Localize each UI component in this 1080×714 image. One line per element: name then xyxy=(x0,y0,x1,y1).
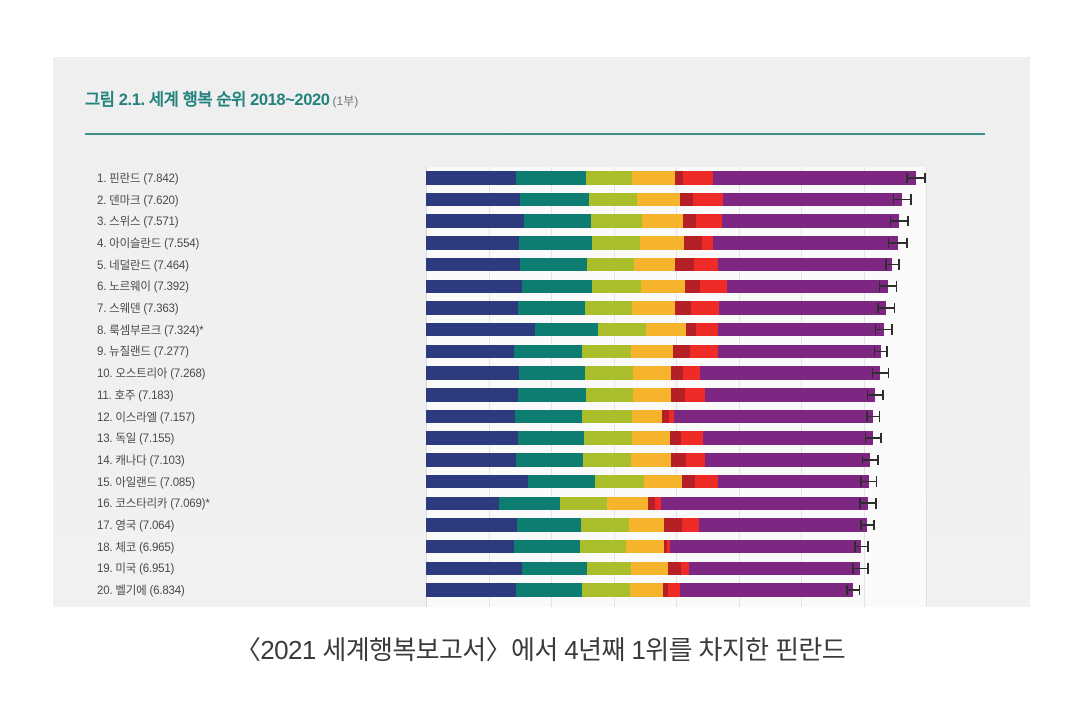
confidence-interval-whisker xyxy=(893,193,912,207)
bar-segment-corruption xyxy=(668,583,680,597)
bar-segment-health xyxy=(581,518,629,532)
bar-segment-freedom xyxy=(642,214,683,228)
stacked-bar xyxy=(426,193,902,207)
bar-segment-health xyxy=(589,193,637,207)
bar-segment-gdp xyxy=(426,497,499,511)
chart-row: 17. 영국 (7.064) xyxy=(426,514,926,536)
stacked-bar xyxy=(426,562,860,576)
bar-segment-health xyxy=(595,475,644,489)
country-label: 10. 오스트리아 (7.268) xyxy=(97,365,397,381)
bar-segment-gdp xyxy=(426,236,519,250)
bar-segment-gdp xyxy=(426,171,516,185)
plot-area: 1. 핀란드 (7.842)2. 덴마크 (7.620)3. 스위스 (7.57… xyxy=(426,167,926,607)
bar-segment-gdp xyxy=(426,562,522,576)
stacked-bar xyxy=(426,258,893,272)
bar-segment-social xyxy=(535,323,598,337)
confidence-interval-whisker xyxy=(877,301,895,315)
bar-segment-corruption xyxy=(683,366,700,380)
bar-segment-generosity xyxy=(680,193,693,207)
bar-segment-gdp xyxy=(426,583,516,597)
bar-segment-corruption xyxy=(694,258,718,272)
chart-row: 6. 노르웨이 (7.392) xyxy=(426,276,926,298)
bar-segment-health xyxy=(584,431,632,445)
bar-segment-health xyxy=(587,562,632,576)
country-label: 11. 호주 (7.183) xyxy=(97,387,397,403)
bar-segment-social xyxy=(528,475,595,489)
bar-segment-health xyxy=(586,171,632,185)
country-label: 3. 스위스 (7.571) xyxy=(97,213,397,229)
bar-segment-corruption xyxy=(686,453,705,467)
bar-segment-dystopia xyxy=(718,345,881,359)
country-label: 15. 아일랜드 (7.085) xyxy=(97,474,397,490)
bar-segment-social xyxy=(519,366,585,380)
bar-segment-health xyxy=(592,280,641,294)
chart-row: 2. 덴마크 (7.620) xyxy=(426,189,926,211)
chart-row: 3. 스위스 (7.571) xyxy=(426,210,926,232)
stacked-bar xyxy=(426,475,869,489)
chart-row: 7. 스웨덴 (7.363) xyxy=(426,297,926,319)
bar-segment-health xyxy=(585,366,633,380)
bar-segment-social xyxy=(499,497,560,511)
bar-segment-generosity xyxy=(670,431,682,445)
bar-segment-generosity xyxy=(682,475,696,489)
chart-row: 19. 미국 (6.951) xyxy=(426,558,926,580)
chart-row: 5. 네덜란드 (7.464) xyxy=(426,254,926,276)
bar-segment-generosity xyxy=(684,236,702,250)
bar-segment-social xyxy=(518,431,583,445)
confidence-interval-whisker xyxy=(852,562,868,576)
bar-segment-freedom xyxy=(632,431,670,445)
bar-segment-dystopia xyxy=(719,301,887,315)
bar-segment-health xyxy=(587,258,634,272)
bar-segment-dystopia xyxy=(718,323,884,337)
chart-row: 13. 독일 (7.155) xyxy=(426,427,926,449)
stacked-bar xyxy=(426,323,884,337)
bar-segment-gdp xyxy=(426,453,516,467)
bar-segment-social xyxy=(515,410,582,424)
bar-segment-generosity xyxy=(675,301,690,315)
chart-row: 14. 캐나다 (7.103) xyxy=(426,449,926,471)
stacked-bar xyxy=(426,431,873,445)
bar-segment-corruption xyxy=(682,518,700,532)
confidence-interval-whisker xyxy=(867,388,884,402)
bar-segment-gdp xyxy=(426,345,514,359)
bar-segment-generosity xyxy=(662,410,669,424)
bar-segment-gdp xyxy=(426,410,515,424)
figure-caption: 〈2021 세계행복보고서〉에서 4년째 1위를 차지한 핀란드 xyxy=(0,630,1080,667)
bar-segment-social xyxy=(524,214,591,228)
page-root: 그림 2.1. 세계 행복 순위 2018~2020(1부) 1. 핀란드 (7… xyxy=(0,0,1080,714)
bar-segment-corruption xyxy=(696,214,722,228)
bar-segment-generosity xyxy=(685,280,701,294)
bar-segment-freedom xyxy=(633,388,671,402)
bar-segment-dystopia xyxy=(722,214,899,228)
confidence-interval-whisker xyxy=(875,323,893,337)
bar-segment-generosity xyxy=(671,388,685,402)
confidence-interval-whisker xyxy=(860,518,874,532)
country-label: 13. 독일 (7.155) xyxy=(97,430,397,446)
bar-segment-dystopia xyxy=(680,583,853,597)
bar-segment-generosity xyxy=(686,323,696,337)
bar-segment-corruption xyxy=(690,345,718,359)
bar-segment-corruption xyxy=(696,323,718,337)
bar-segment-social xyxy=(518,301,584,315)
happiness-ranking-chart: 1. 핀란드 (7.842)2. 덴마크 (7.620)3. 스위스 (7.57… xyxy=(53,167,1030,607)
bar-segment-generosity xyxy=(668,562,681,576)
country-label: 12. 이스라엘 (7.157) xyxy=(97,409,397,425)
bar-segment-social xyxy=(518,388,586,402)
confidence-interval-whisker xyxy=(866,410,880,424)
bar-segment-health xyxy=(583,453,632,467)
stacked-bar xyxy=(426,388,875,402)
bar-segment-health xyxy=(560,497,608,511)
bar-segment-gdp xyxy=(426,518,517,532)
bar-segment-dystopia xyxy=(718,475,869,489)
stacked-bar xyxy=(426,236,898,250)
bar-segment-freedom xyxy=(607,497,648,511)
bar-segment-dystopia xyxy=(718,258,893,272)
bar-segment-gdp xyxy=(426,280,522,294)
confidence-interval-whisker xyxy=(846,583,860,597)
country-label: 7. 스웨덴 (7.363) xyxy=(97,300,397,316)
chart-row: 1. 핀란드 (7.842) xyxy=(426,167,926,189)
confidence-interval-whisker xyxy=(872,366,890,380)
chart-row: 20. 벨기에 (6.834) xyxy=(426,579,926,601)
title-divider xyxy=(85,133,985,135)
country-label: 9. 뉴질랜드 (7.277) xyxy=(97,343,397,359)
stacked-bar xyxy=(426,301,886,315)
confidence-interval-whisker xyxy=(860,475,877,489)
bar-segment-health xyxy=(592,236,640,250)
bar-segment-corruption xyxy=(700,280,727,294)
gridline-8 xyxy=(926,167,927,607)
bar-segment-freedom xyxy=(632,410,661,424)
country-label: 8. 룩셈부르크 (7.324)* xyxy=(97,322,397,338)
confidence-interval-whisker xyxy=(890,214,909,228)
figure-card: 그림 2.1. 세계 행복 순위 2018~2020(1부) 1. 핀란드 (7… xyxy=(53,57,1030,607)
bar-segment-dystopia xyxy=(713,171,916,185)
confidence-interval-whisker xyxy=(862,453,879,467)
bar-segment-corruption xyxy=(691,301,719,315)
bar-segment-gdp xyxy=(426,540,514,554)
bar-segment-generosity xyxy=(683,214,696,228)
bar-segment-dystopia xyxy=(670,540,861,554)
bar-segment-freedom xyxy=(641,280,685,294)
chart-row: 8. 룩셈부르크 (7.324)* xyxy=(426,319,926,341)
bar-segment-health xyxy=(585,301,633,315)
country-label: 2. 덴마크 (7.620) xyxy=(97,192,397,208)
bar-segment-generosity xyxy=(664,518,682,532)
bar-segment-gdp xyxy=(426,366,519,380)
bar-segment-health xyxy=(580,540,626,554)
bar-segment-corruption xyxy=(702,236,713,250)
country-label: 5. 네덜란드 (7.464) xyxy=(97,257,397,273)
bar-segment-dystopia xyxy=(703,431,873,445)
bar-segment-corruption xyxy=(695,475,717,489)
stacked-bar xyxy=(426,583,853,597)
stacked-bar xyxy=(426,171,916,185)
chart-row: 15. 아일랜드 (7.085) xyxy=(426,471,926,493)
country-label: 17. 영국 (7.064) xyxy=(97,517,397,533)
bar-segment-health xyxy=(582,410,632,424)
bar-segment-freedom xyxy=(631,562,668,576)
bar-segment-dystopia xyxy=(700,366,880,380)
bar-segment-corruption xyxy=(681,562,689,576)
bar-segment-generosity xyxy=(673,345,690,359)
country-label: 20. 벨기에 (6.834) xyxy=(97,582,397,598)
bar-segment-social xyxy=(519,236,592,250)
bar-segment-social xyxy=(516,171,585,185)
bar-segment-social xyxy=(516,453,582,467)
bar-segment-health xyxy=(586,388,634,402)
bar-segment-freedom xyxy=(629,518,664,532)
bar-segment-social xyxy=(520,193,589,207)
bar-segment-corruption xyxy=(693,193,723,207)
country-label: 4. 아이슬란드 (7.554) xyxy=(97,235,397,251)
bar-segment-social xyxy=(514,540,579,554)
bar-segment-freedom xyxy=(633,366,671,380)
bar-segment-gdp xyxy=(426,214,524,228)
chart-row: 16. 코스타리카 (7.069)* xyxy=(426,493,926,515)
bar-segment-health xyxy=(598,323,646,337)
bar-segment-freedom xyxy=(640,236,684,250)
confidence-interval-whisker xyxy=(874,345,888,359)
country-label: 14. 캐나다 (7.103) xyxy=(97,452,397,468)
chart-row: 18. 체코 (6.965) xyxy=(426,536,926,558)
country-label: 16. 코스타리카 (7.069)* xyxy=(97,495,397,511)
bar-rows: 1. 핀란드 (7.842)2. 덴마크 (7.620)3. 스위스 (7.57… xyxy=(426,167,926,607)
bar-segment-social xyxy=(516,583,581,597)
figure-title: 그림 2.1. 세계 행복 순위 2018~2020(1부) xyxy=(85,86,358,110)
confidence-interval-whisker xyxy=(888,236,908,250)
stacked-bar xyxy=(426,497,868,511)
confidence-interval-whisker xyxy=(865,431,882,445)
bar-segment-freedom xyxy=(632,301,675,315)
confidence-interval-whisker xyxy=(885,258,899,272)
bar-segment-gdp xyxy=(426,431,518,445)
stacked-bar xyxy=(426,280,888,294)
bar-segment-dystopia xyxy=(661,497,868,511)
bar-segment-social xyxy=(514,345,582,359)
bar-segment-freedom xyxy=(646,323,686,337)
bar-segment-generosity xyxy=(671,453,686,467)
stacked-bar xyxy=(426,214,899,228)
bar-segment-social xyxy=(517,518,582,532)
country-label: 1. 핀란드 (7.842) xyxy=(97,170,397,186)
bar-segment-freedom xyxy=(644,475,682,489)
bar-segment-dystopia xyxy=(705,453,870,467)
bar-segment-health xyxy=(582,345,631,359)
bar-segment-freedom xyxy=(630,583,664,597)
bar-segment-generosity xyxy=(675,171,683,185)
bar-segment-gdp xyxy=(426,323,535,337)
bar-segment-health xyxy=(591,214,642,228)
stacked-bar xyxy=(426,453,870,467)
bar-segment-health xyxy=(582,583,630,597)
bar-segment-corruption xyxy=(683,171,713,185)
stacked-bar xyxy=(426,540,861,554)
chart-row: 4. 아이슬란드 (7.554) xyxy=(426,232,926,254)
country-label: 19. 미국 (6.951) xyxy=(97,560,397,576)
bar-segment-generosity xyxy=(671,366,683,380)
country-label: 18. 체코 (6.965) xyxy=(97,539,397,555)
figure-title-text: 그림 2.1. 세계 행복 순위 2018~2020 xyxy=(85,91,330,109)
confidence-interval-whisker xyxy=(859,497,877,511)
bar-segment-freedom xyxy=(631,453,670,467)
bar-segment-dystopia xyxy=(674,410,873,424)
confidence-interval-whisker xyxy=(854,540,868,554)
bar-segment-dystopia xyxy=(699,518,867,532)
bar-segment-gdp xyxy=(426,475,528,489)
chart-row: 11. 호주 (7.183) xyxy=(426,384,926,406)
confidence-interval-whisker xyxy=(906,171,926,185)
chart-row: 9. 뉴질랜드 (7.277) xyxy=(426,341,926,363)
bar-segment-freedom xyxy=(637,193,680,207)
bar-segment-social xyxy=(522,280,591,294)
bar-segment-gdp xyxy=(426,258,520,272)
bar-segment-freedom xyxy=(626,540,664,554)
confidence-interval-whisker xyxy=(879,280,898,294)
bar-segment-freedom xyxy=(632,171,675,185)
chart-row: 12. 이스라엘 (7.157) xyxy=(426,406,926,428)
figure-title-part: (1부) xyxy=(333,94,359,108)
stacked-bar xyxy=(426,518,868,532)
bar-segment-social xyxy=(520,258,587,272)
bar-segment-corruption xyxy=(685,388,706,402)
stacked-bar xyxy=(426,410,873,424)
bar-segment-dystopia xyxy=(713,236,898,250)
country-label: 6. 노르웨이 (7.392) xyxy=(97,278,397,294)
bar-segment-freedom xyxy=(631,345,673,359)
bar-segment-dystopia xyxy=(727,280,888,294)
bar-segment-gdp xyxy=(426,388,518,402)
bar-segment-gdp xyxy=(426,193,520,207)
bar-segment-dystopia xyxy=(705,388,875,402)
bar-segment-freedom xyxy=(634,258,674,272)
bar-segment-corruption xyxy=(681,431,702,445)
bar-segment-dystopia xyxy=(689,562,860,576)
stacked-bar xyxy=(426,366,880,380)
bar-segment-gdp xyxy=(426,301,518,315)
chart-row: 10. 오스트리아 (7.268) xyxy=(426,362,926,384)
bar-segment-dystopia xyxy=(723,193,902,207)
stacked-bar xyxy=(426,345,881,359)
bar-segment-social xyxy=(522,562,586,576)
bar-segment-generosity xyxy=(675,258,694,272)
